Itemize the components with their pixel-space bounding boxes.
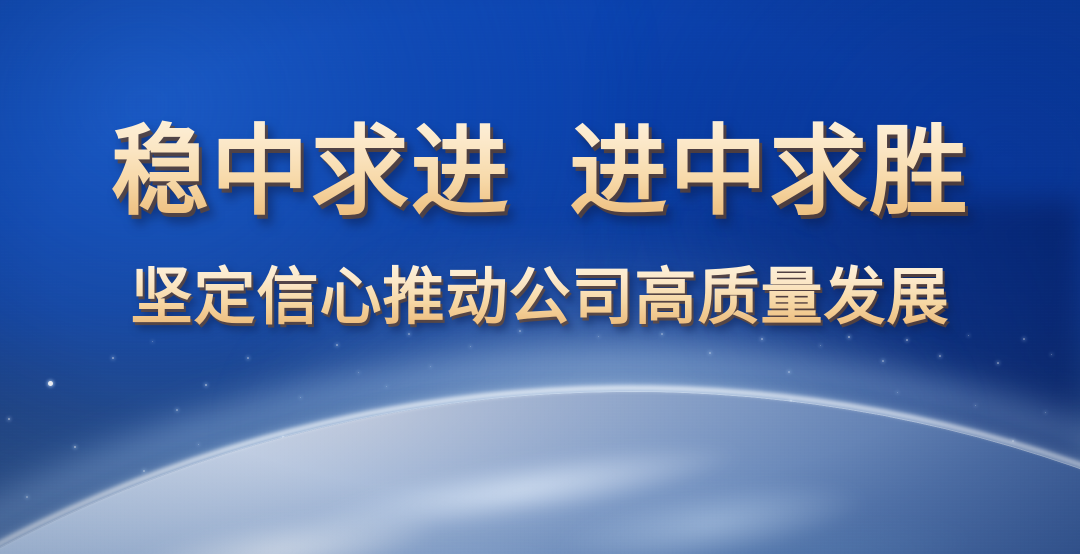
headline-slogan: 稳中求进 进中求胜: [0, 116, 1080, 226]
subheadline-slogan: 坚定信心推动公司高质量发展: [0, 262, 1080, 334]
poster-root: 稳中求进 进中求胜 坚定信心推动公司高质量发展: [0, 0, 1080, 554]
